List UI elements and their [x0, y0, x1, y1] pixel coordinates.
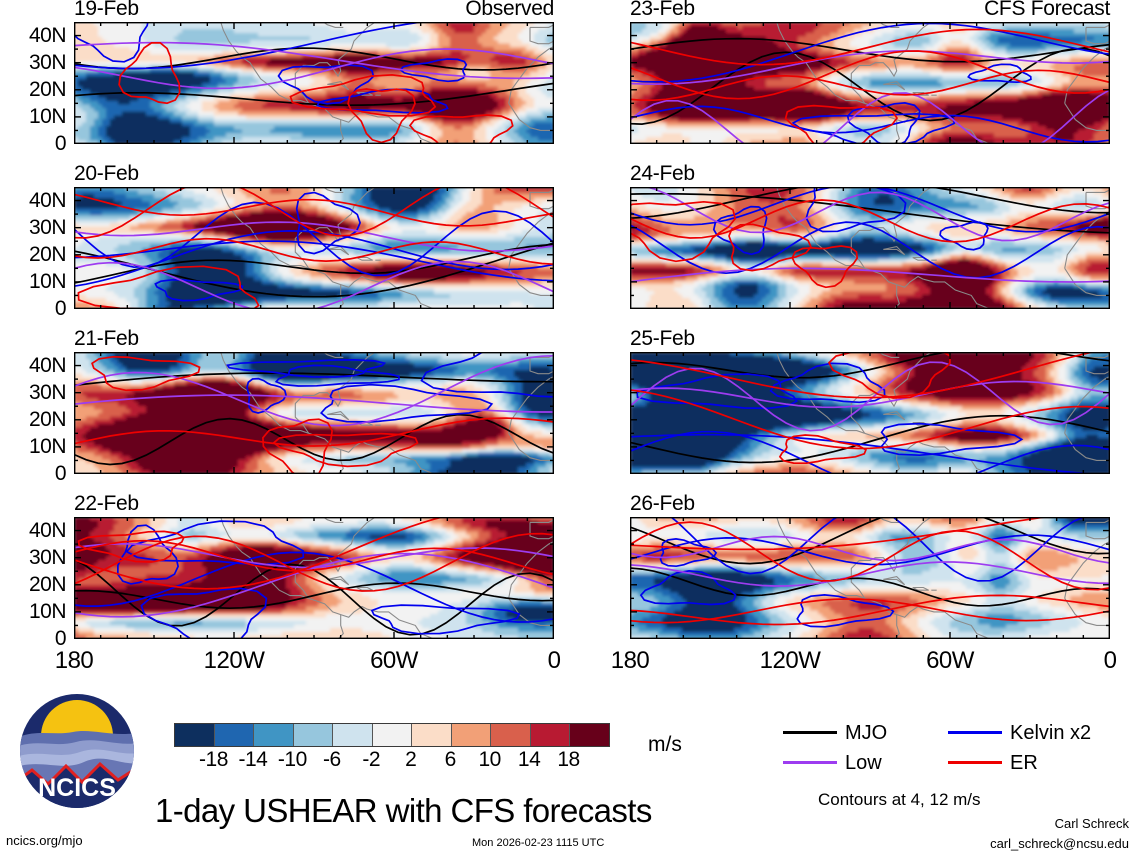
y-axis-label: 30N: [6, 381, 66, 405]
colorbar: [174, 723, 610, 747]
panel-title-20-feb: 20-Feb: [74, 162, 139, 186]
map-panel-25-feb: [630, 352, 1110, 474]
colorbar-tick-label: -2: [362, 748, 380, 772]
colorbar-swatch: [411, 724, 451, 746]
y-axis-label: 30N: [6, 546, 66, 570]
y-axis-label: 40N: [6, 354, 66, 378]
contours-note: Contours at 4, 12 m/s: [818, 790, 981, 810]
y-axis-label: 20N: [6, 408, 66, 432]
legend-line-er: [948, 761, 1002, 764]
y-axis-label: 20N: [6, 243, 66, 267]
map-panel-24-feb: [630, 187, 1110, 309]
legend-label-low: Low: [845, 752, 882, 775]
map-panel-19-feb: [74, 22, 554, 144]
colorbar-swatch: [293, 724, 333, 746]
shading-layer: [74, 22, 554, 144]
panel-title-25-feb: 25-Feb: [630, 327, 695, 351]
y-axis-label: 10N: [6, 105, 66, 129]
colorbar-tick-label: -6: [323, 748, 341, 772]
map-panel-23-feb: [630, 22, 1110, 144]
column-header-right: CFS Forecast: [630, 0, 1110, 21]
colorbar-tick-label: 18: [557, 748, 579, 772]
shading-layer: [630, 187, 1110, 309]
column-header-left: Observed: [74, 0, 554, 21]
colorbar-swatch: [372, 724, 412, 746]
y-axis-label: 0: [6, 132, 66, 156]
colorbar-swatch: [490, 724, 530, 746]
ncics-logo: NCICS: [18, 692, 136, 810]
y-axis-label: 10N: [6, 270, 66, 294]
legend-label-mjo: MJO: [845, 722, 887, 745]
legend-line-mjo: [783, 731, 837, 734]
footer-email: carl_schreck@ncsu.edu: [990, 836, 1129, 851]
colorbar-swatch: [253, 724, 293, 746]
colorbar-tick-label: 14: [518, 748, 540, 772]
y-axis-label: 40N: [6, 24, 66, 48]
y-axis-label: 10N: [6, 600, 66, 624]
logo-text: NCICS: [38, 774, 116, 802]
map-panel-20-feb: [74, 187, 554, 309]
map-panel-21-feb: [74, 352, 554, 474]
colorbar-swatch: [214, 724, 254, 746]
legend-label-er: ER: [1010, 752, 1038, 775]
colorbar-tick-label: -14: [238, 748, 267, 772]
panel-title-24-feb: 24-Feb: [630, 162, 695, 186]
colorbar-swatch: [175, 724, 214, 746]
x-axis-label: 120W: [760, 647, 821, 675]
footer-author: Carl Schreck: [1055, 816, 1129, 831]
shading-layer: [74, 187, 554, 309]
colorbar-swatch: [530, 724, 570, 746]
x-axis-label: 60W: [370, 647, 418, 675]
y-axis-label: 0: [6, 297, 66, 321]
legend-label-kelvin-x2: Kelvin x2: [1010, 722, 1091, 745]
map-panel-22-feb: [74, 517, 554, 639]
colorbar-tick-label: 6: [445, 748, 456, 772]
x-axis-label: 60W: [926, 647, 974, 675]
y-axis-label: 20N: [6, 78, 66, 102]
footer-timestamp: Mon 2026-02-23 1115 UTC: [472, 837, 604, 849]
x-axis-label: 180: [611, 647, 650, 675]
y-axis-label: 40N: [6, 189, 66, 213]
x-axis-label: 0: [548, 647, 561, 675]
y-axis-label: 20N: [6, 573, 66, 597]
y-axis-label: 0: [6, 462, 66, 486]
y-axis-label: 30N: [6, 216, 66, 240]
map-panel-26-feb: [630, 517, 1110, 639]
x-axis-label: 0: [1104, 647, 1117, 675]
footer-site: ncics.org/mjo: [6, 833, 83, 848]
panel-title-22-feb: 22-Feb: [74, 492, 139, 516]
panel-title-26-feb: 26-Feb: [630, 492, 695, 516]
x-axis-label: 120W: [204, 647, 265, 675]
legend-line-low: [783, 761, 837, 764]
panel-title-21-feb: 21-Feb: [74, 327, 139, 351]
x-axis-label: 180: [55, 647, 94, 675]
colorbar-swatch: [451, 724, 491, 746]
y-axis-label: 10N: [6, 435, 66, 459]
y-axis-label: 30N: [6, 51, 66, 75]
shading-layer: [74, 517, 554, 639]
colorbar-units: m/s: [648, 733, 682, 757]
colorbar-ticks: -18-14-10-6-226101418: [174, 748, 608, 774]
colorbar-tick-label: -18: [199, 748, 228, 772]
colorbar-swatch: [569, 724, 609, 746]
colorbar-tick-label: 10: [478, 748, 500, 772]
main-title: 1-day USHEAR with CFS forecasts: [155, 792, 652, 830]
legend-line-kelvin-x2: [948, 731, 1002, 734]
y-axis-label: 40N: [6, 519, 66, 543]
colorbar-tick-label: -10: [278, 748, 307, 772]
colorbar-tick-label: 2: [405, 748, 416, 772]
colorbar-swatch: [332, 724, 372, 746]
